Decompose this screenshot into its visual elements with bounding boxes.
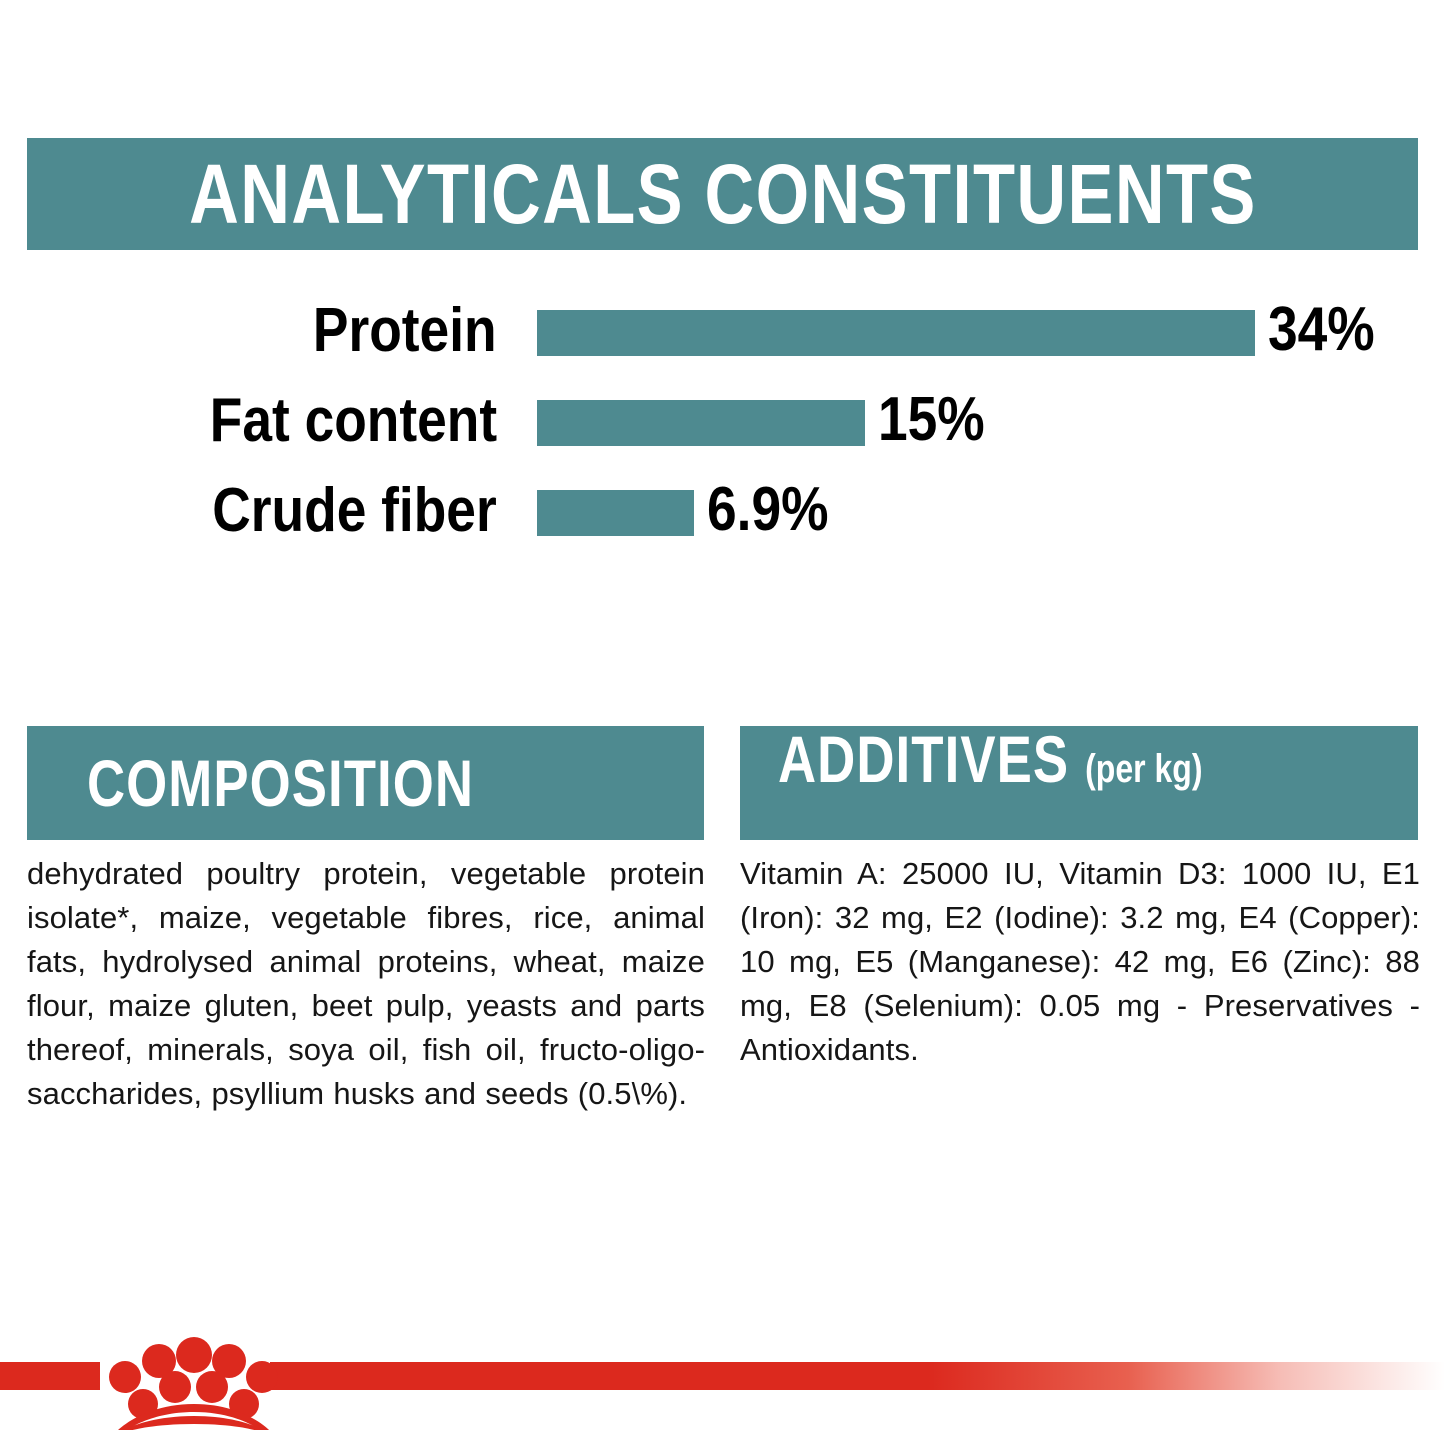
analyticals-constituents-header: ANALYTICALS CONSTITUENTS [27,138,1418,250]
bar-value-fat-content: 15% [878,385,985,457]
footer-rule-right [270,1362,1445,1390]
bar-label-crude-fiber: Crude fiber [213,475,497,547]
chart-row-fat-content: Fat content 15% [0,385,1445,457]
bar-label-fat-content: Fat content [210,385,497,457]
analyticals-bar-chart: Protein 34% Fat content 15% Crude fiber … [0,295,1445,565]
composition-body-text: dehydrated poultry protein, vegetable pr… [27,852,705,1116]
chart-row-crude-fiber: Crude fiber 6.9% [0,475,1445,547]
bar-label-protein: Protein [313,295,497,367]
bar-fat-content [537,400,865,446]
chart-row-protein: Protein 34% [0,295,1445,367]
composition-title: COMPOSITION [87,750,474,816]
footer-rule-left [0,1362,100,1390]
additives-header-inner: ADDITIVES (per kg) [778,726,1203,792]
royal-canin-crown-icon [104,1330,280,1430]
additives-title: ADDITIVES [778,726,1069,792]
composition-header: COMPOSITION [27,726,704,840]
additives-body-text: Vitamin A: 25000 IU, Vitamin D3: 1000 IU… [740,852,1420,1072]
analyticals-constituents-title: ANALYTICALS CONSTITUENTS [189,152,1257,236]
footer [0,1330,1445,1445]
bar-value-protein: 34% [1268,295,1375,367]
bar-crude-fiber [537,490,694,536]
bar-protein [537,310,1255,356]
additives-per-kg-label: (per kg) [1085,749,1202,789]
additives-header: ADDITIVES (per kg) [740,726,1418,840]
bar-value-crude-fiber: 6.9% [707,475,829,547]
